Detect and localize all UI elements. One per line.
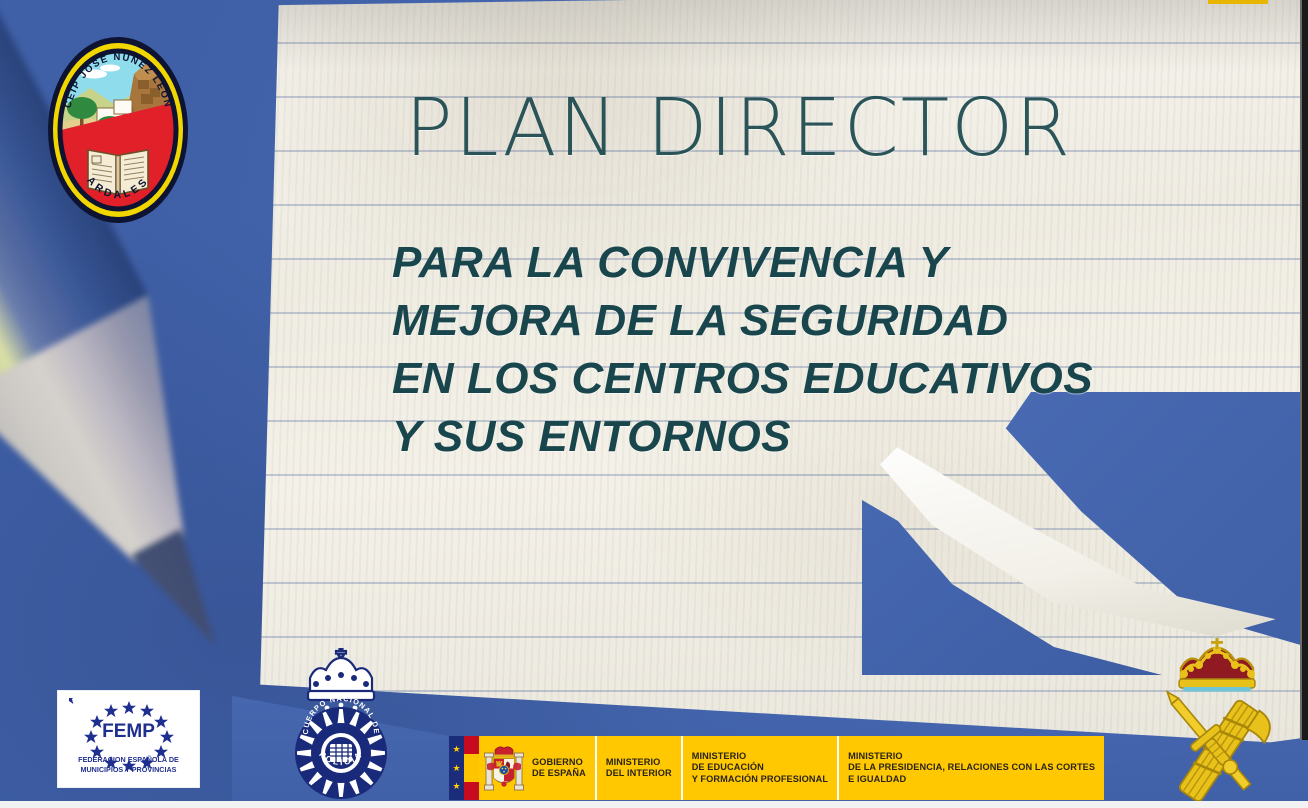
banner-educacion-line2: DE EDUCACIÓN [692, 762, 828, 774]
banner-interior-line2: DEL INTERIOR [606, 768, 672, 780]
eu-stars-strip: ★ ★ ★ [449, 736, 464, 800]
banner-educacion-line3: Y FORMACIÓN PROFESIONAL [692, 774, 828, 786]
policia-nacional-logo: CUERPO NACIONAL DE POLICÍA [286, 648, 396, 806]
banner-presidencia-line1: MINISTERIO [848, 751, 1095, 763]
guardia-civil-emblem-icon [1155, 634, 1280, 808]
femp-fullname: FEDERACION ESPAÑOLA DE MUNICIPIOS Y PROV… [78, 755, 179, 774]
eu-star: ★ [452, 764, 460, 773]
banner-interior-line1: MINISTERIO [606, 757, 672, 769]
banner-educacion-text: MINISTERIO DE EDUCACIÓN Y FORMACIÓN PROF… [692, 751, 828, 786]
banner-gobierno-text: GOBIERNO DE ESPAÑA [532, 757, 586, 780]
government-banner: ★ ★ ★ [449, 736, 1104, 800]
policia-nacional-badge-icon: CUERPO NACIONAL DE POLICÍA [286, 648, 396, 806]
banner-cell-interior: MINISTERIO DEL INTERIOR [597, 736, 683, 800]
banner-presidencia-line3: E IGUALDAD [848, 774, 1095, 786]
paper-top-shadow [232, 0, 1308, 70]
banner-cell-educacion: MINISTERIO DE EDUCACIÓN Y FORMACIÓN PROF… [683, 736, 839, 800]
banner-cell-gobierno: GOBIERNO DE ESPAÑA [479, 736, 597, 800]
femp-fullname-line1: FEDERACION ESPAÑOLA DE [78, 755, 179, 764]
spain-flag-strip [464, 736, 479, 800]
poster-title: PLAN DIRECTOR [405, 82, 1072, 174]
banner-educacion-line1: MINISTERIO [692, 751, 828, 763]
school-crest: CEIP JOSÉ NÚÑEZ LEÓN ARDALES [42, 30, 194, 230]
spain-eu-flag-icon: ★ ★ ★ [449, 736, 479, 800]
guardia-civil-logo [1155, 634, 1280, 808]
femp-acronym: FEMP [102, 721, 155, 743]
banner-gobierno-line2: DE ESPAÑA [532, 768, 586, 780]
banner-interior-text: MINISTERIO DEL INTERIOR [606, 757, 672, 780]
poster-subtitle: PARA LA CONVIVENCIA Y MEJORA DE LA SEGUR… [392, 234, 1093, 466]
spain-coat-of-arms-icon [483, 742, 525, 794]
right-frame-outer [1302, 0, 1308, 740]
eu-star: ★ [452, 745, 460, 754]
poster-root: PLAN DIRECTOR PARA LA CONVIVENCIA Y MEJO… [0, 0, 1308, 808]
subtitle-line-2: MEJORA DE LA SEGURIDAD [392, 292, 1093, 350]
banner-cell-presidencia: MINISTERIO DE LA PRESIDENCIA, RELACIONES… [839, 736, 1104, 800]
subtitle-line-4: Y SUS ENTORNOS [392, 408, 1093, 466]
top-yellow-sliver [1208, 0, 1268, 4]
subtitle-line-3: EN LOS CENTROS EDUCATIVOS [392, 350, 1093, 408]
femp-fullname-line2: MUNICIPIOS Y PROVINCIAS [80, 765, 176, 774]
bottom-light-strip [0, 801, 1308, 808]
femp-logo: FEMP FEDERACION ESPAÑOLA DE MUNICIPIOS Y… [58, 691, 199, 787]
eu-star: ★ [452, 782, 460, 791]
school-crest-icon: CEIP JOSÉ NÚÑEZ LEÓN ARDALES [42, 30, 194, 230]
banner-presidencia-line2: DE LA PRESIDENCIA, RELACIONES CON LAS CO… [848, 762, 1095, 774]
subtitle-line-1: PARA LA CONVIVENCIA Y [392, 234, 1093, 292]
banner-gobierno-line1: GOBIERNO [532, 757, 586, 769]
banner-presidencia-text: MINISTERIO DE LA PRESIDENCIA, RELACIONES… [848, 751, 1095, 786]
